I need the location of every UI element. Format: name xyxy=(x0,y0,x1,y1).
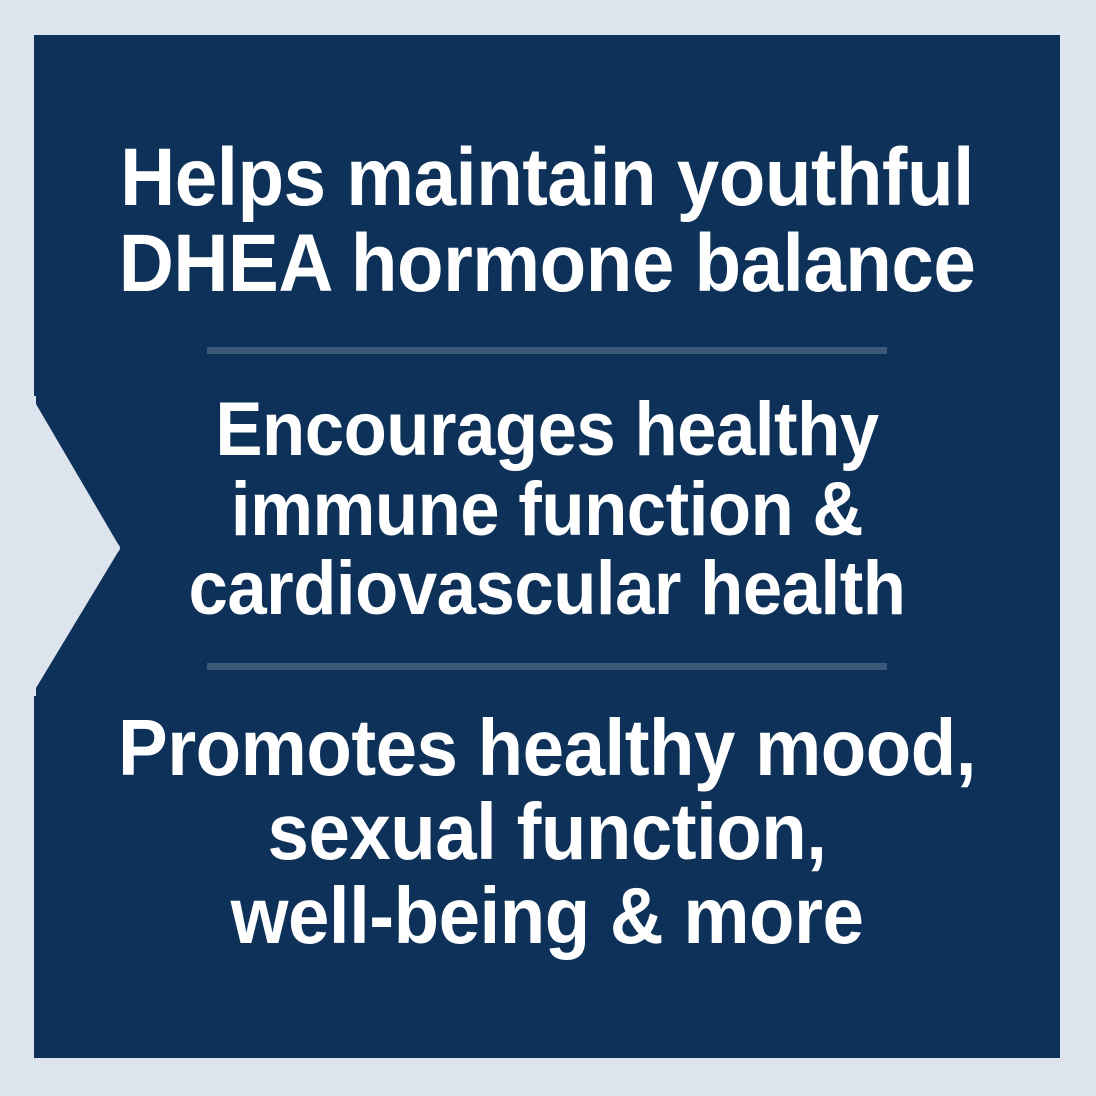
benefits-infographic: Helps maintain youthful DHEA hormone bal… xyxy=(0,0,1096,1096)
benefit-line: sexual function, xyxy=(83,790,1011,874)
benefit-line: immune function & xyxy=(83,470,1011,550)
benefit-line: cardiovascular health xyxy=(83,549,1011,629)
benefit-line: well-being & more xyxy=(83,874,1011,958)
divider-rule-1 xyxy=(207,347,887,354)
benefit-line: Encourages healthy xyxy=(83,390,1011,470)
benefit-line: Helps maintain youthful xyxy=(83,135,1011,221)
benefit-line: DHEA hormone balance xyxy=(83,221,1011,307)
benefit-line: Promotes healthy mood, xyxy=(83,706,1011,790)
divider-rule-2 xyxy=(207,663,887,670)
benefit-item-hormone-balance: Helps maintain youthful DHEA hormone bal… xyxy=(83,135,1011,307)
benefits-list: Helps maintain youthful DHEA hormone bal… xyxy=(34,35,1060,1058)
benefit-item-immune-cardiovascular: Encourages healthy immune function & car… xyxy=(83,390,1011,629)
benefit-item-mood-wellbeing: Promotes healthy mood, sexual function, … xyxy=(83,706,1011,958)
